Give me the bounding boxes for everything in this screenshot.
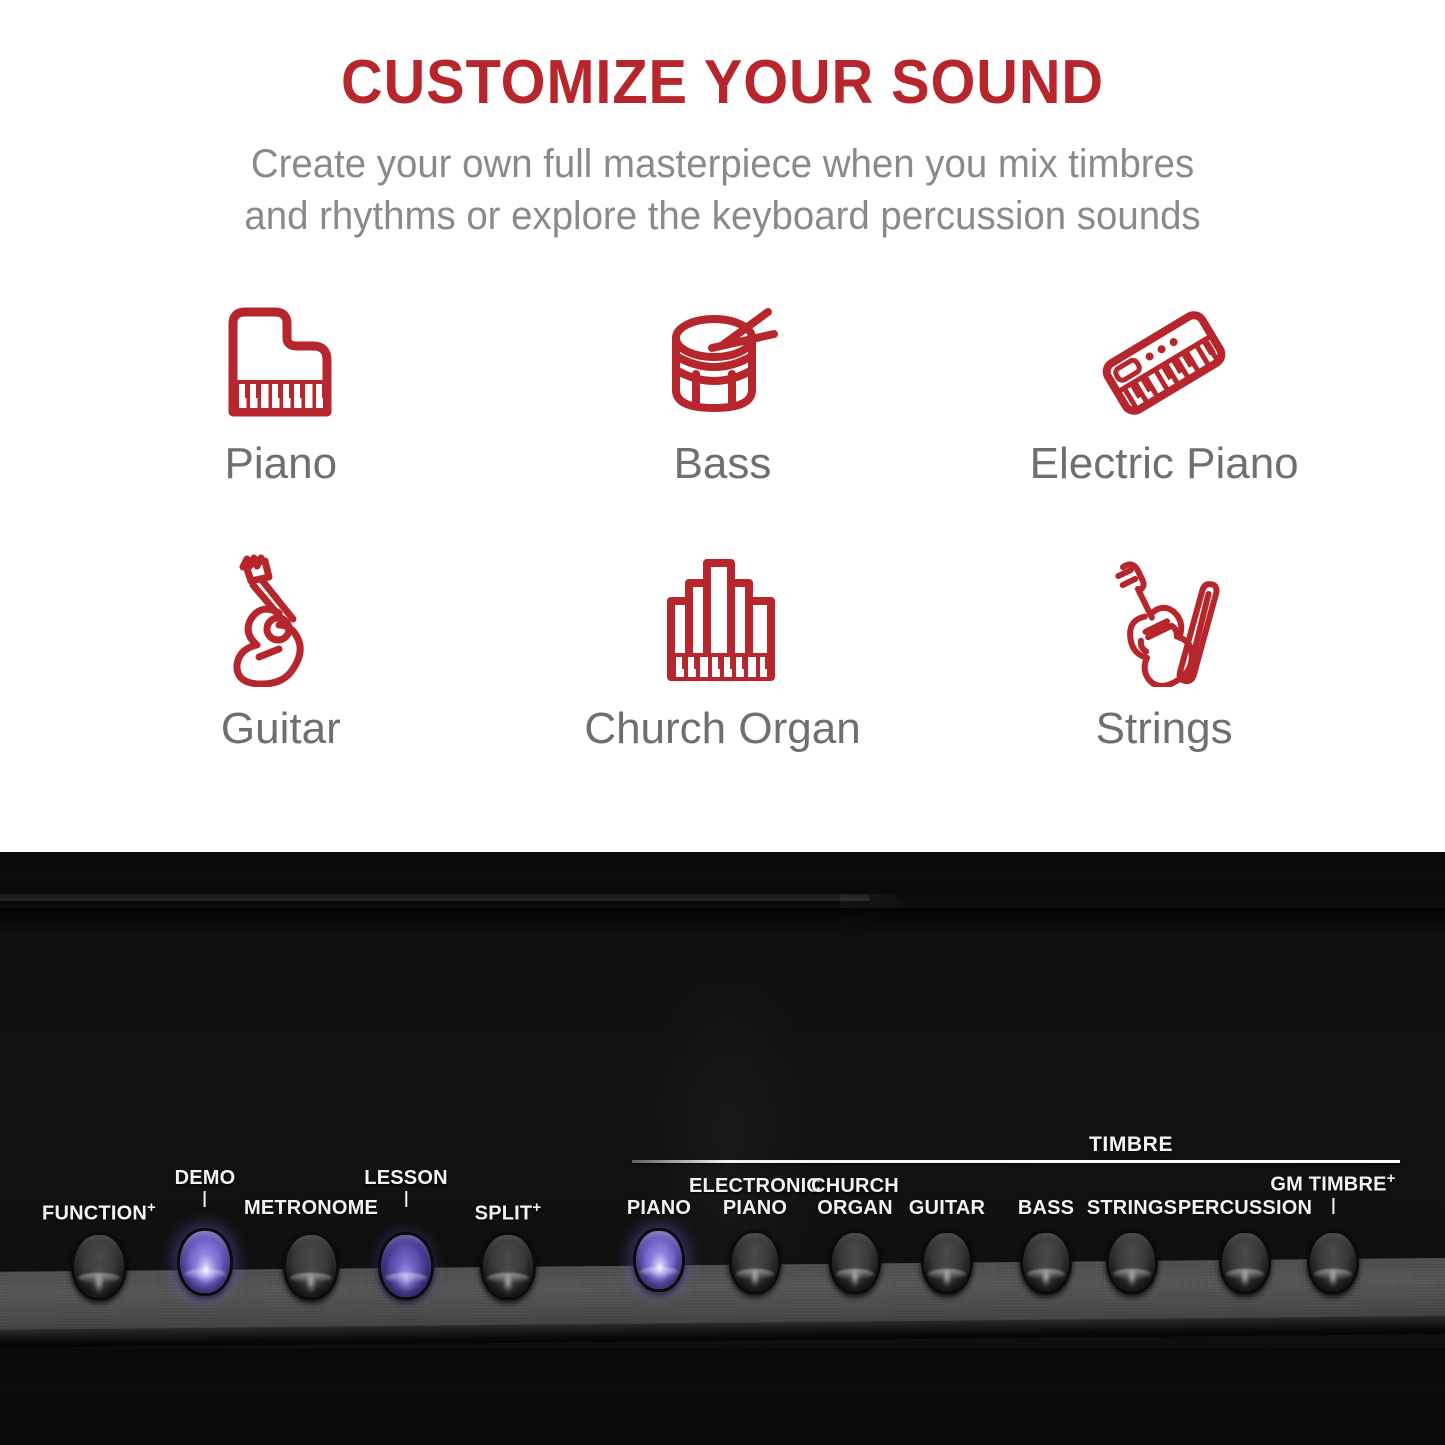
- button-church-organ[interactable]: [832, 1233, 878, 1291]
- page-title: CUSTOMIZE YOUR SOUND: [51, 52, 1395, 114]
- control-panel: TIMBRE FUNCTION+ DEMO METRONOME LESSON S…: [0, 852, 1445, 1445]
- button-function[interactable]: [74, 1235, 124, 1297]
- subtitle-line-1: Create your own full masterpiece when yo…: [29, 138, 1416, 190]
- promo-page: CUSTOMIZE YOUR SOUND Create your own ful…: [0, 0, 1445, 1445]
- feature-item-guitar: Guitar: [60, 550, 502, 800]
- gm-timbre-tick: [1332, 1198, 1334, 1214]
- acoustic-guitar-icon: [201, 550, 361, 690]
- feature-item-piano: Piano: [60, 300, 502, 550]
- control-label-demo: DEMO: [175, 1167, 236, 1207]
- organ-pipes-icon: [642, 550, 802, 690]
- button-strings[interactable]: [1109, 1233, 1155, 1291]
- control-label-function: FUNCTION+: [42, 1197, 156, 1225]
- feature-label: Electric Piano: [1030, 439, 1299, 489]
- button-split[interactable]: [483, 1235, 533, 1297]
- timbre-label-guitar: GUITAR: [909, 1197, 985, 1219]
- feature-item-electric-piano: Electric Piano: [943, 300, 1385, 550]
- marketing-panel: CUSTOMIZE YOUR SOUND Create your own ful…: [0, 0, 1445, 852]
- feature-icon-grid: Piano: [60, 300, 1385, 800]
- timbre-label-gm-timbre: GM TIMBRE+: [1270, 1168, 1395, 1214]
- feature-item-strings: Strings: [943, 550, 1385, 800]
- snare-drum-icon: [642, 300, 802, 425]
- button-demo[interactable]: [180, 1231, 230, 1293]
- button-lesson[interactable]: [381, 1235, 431, 1297]
- control-label-lesson: LESSON: [364, 1167, 447, 1207]
- subtitle-line-2: and rhythms or explore the keyboard perc…: [29, 190, 1416, 242]
- feature-item-church-organ: Church Organ: [502, 550, 944, 800]
- timbre-label-strings: STRINGS: [1087, 1197, 1177, 1219]
- timbre-label-bass: BASS: [1018, 1197, 1074, 1219]
- button-gm-timbre[interactable]: [1310, 1233, 1356, 1291]
- feature-label: Guitar: [221, 704, 341, 754]
- feature-label: Piano: [225, 439, 338, 489]
- grand-piano-icon: [201, 300, 361, 425]
- button-guitar[interactable]: [924, 1233, 970, 1291]
- timbre-group-label: TIMBRE: [1089, 1133, 1173, 1157]
- button-electronic-piano[interactable]: [732, 1233, 778, 1291]
- control-label-metronome: METRONOME: [244, 1197, 378, 1219]
- timbre-label-church-organ: CHURCHORGAN: [811, 1175, 899, 1219]
- timbre-label-piano: PIANO: [627, 1197, 691, 1219]
- timbre-label-electronic-piano: ELECTRONICPIANO: [689, 1175, 821, 1219]
- demo-tick: [204, 1191, 206, 1207]
- button-percussion[interactable]: [1222, 1233, 1268, 1291]
- button-metronome[interactable]: [286, 1235, 336, 1297]
- violin-bow-icon: [1084, 550, 1244, 690]
- page-subtitle: Create your own full masterpiece when yo…: [29, 138, 1416, 242]
- synth-keyboard-icon: [1084, 300, 1244, 425]
- feature-item-bass: Bass: [502, 300, 944, 550]
- button-bass[interactable]: [1023, 1233, 1069, 1291]
- feature-label: Church Organ: [584, 704, 860, 754]
- lesson-tick: [405, 1191, 407, 1207]
- feature-label: Strings: [1096, 704, 1233, 754]
- button-piano[interactable]: [636, 1231, 682, 1289]
- feature-label: Bass: [674, 439, 772, 489]
- control-label-split: SPLIT+: [475, 1197, 542, 1225]
- timbre-group-rule: [632, 1160, 1400, 1163]
